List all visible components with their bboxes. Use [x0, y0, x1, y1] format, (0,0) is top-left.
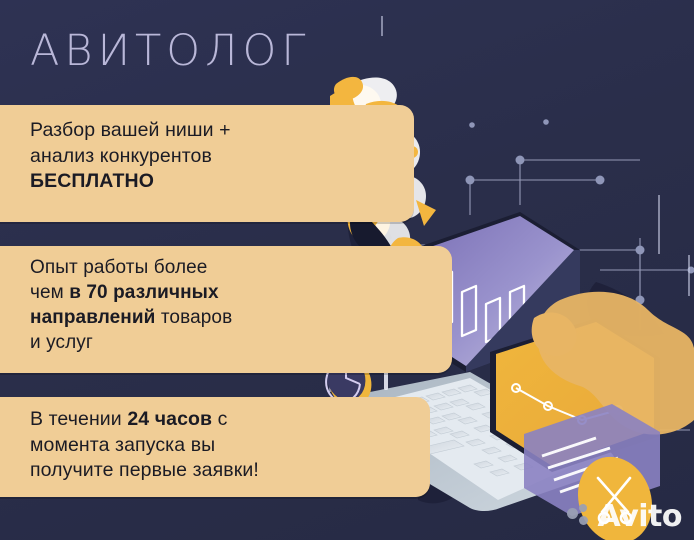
panel-line: Опыт работы более — [30, 255, 434, 280]
poster: АВИТОЛОГ Разбор вашей ниши + анализ конк… — [0, 0, 694, 540]
panel-experience: Опыт работы более чем в 70 различных нап… — [0, 246, 452, 373]
panel-speed: В течении 24 часов с момента запуска вы … — [0, 397, 430, 497]
panel-line: и услуг — [30, 330, 434, 355]
panel-experience-text: Опыт работы более чем в 70 различных нап… — [0, 246, 452, 367]
panel-line: анализ конкурентов — [30, 144, 396, 170]
panel-line: Разбор вашей ниши + — [30, 118, 396, 144]
panel-line: момента запуска вы — [30, 433, 412, 459]
panel-line: направлений товаров — [30, 305, 434, 330]
panel-line: получите первые заявки! — [30, 458, 412, 484]
panel-speed-text: В течении 24 часов с момента запуска вы … — [0, 397, 430, 496]
avito-dots-icon — [567, 504, 593, 530]
avito-watermark: Avito — [567, 502, 682, 532]
panel-line: чем в 70 различных — [30, 280, 434, 305]
panel-line: БЕСПЛАТНО — [30, 169, 396, 195]
panel-line: В течении 24 часов с — [30, 407, 412, 433]
avito-brand-text: Avito — [598, 502, 682, 532]
page-title: АВИТОЛОГ — [30, 26, 310, 76]
panel-offer: Разбор вашей ниши + анализ конкурентов Б… — [0, 105, 414, 222]
panel-offer-text: Разбор вашей ниши + анализ конкурентов Б… — [0, 105, 414, 207]
